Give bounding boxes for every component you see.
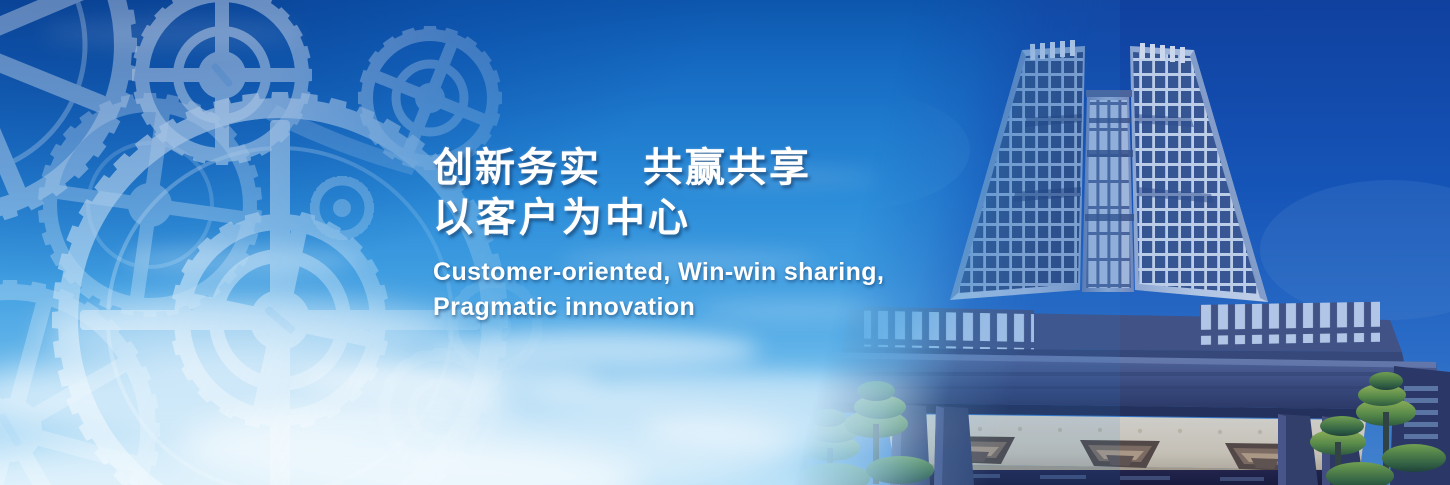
banner-copy: 创新务实 共赢共享 以客户为中心 Customer-oriented, Win-… bbox=[433, 143, 884, 325]
office-tower-photo bbox=[790, 0, 1450, 485]
headline-cn-line1: 创新务实 共赢共享 bbox=[433, 143, 884, 193]
headline-cn-line2: 以客户为中心 bbox=[433, 193, 884, 243]
corporate-hero-banner: 创新务实 共赢共享 以客户为中心 Customer-oriented, Win-… bbox=[0, 0, 1450, 485]
subtitle-en-line2: Pragmatic innovation bbox=[433, 290, 884, 325]
subtitle-en-line1: Customer-oriented, Win-win sharing, bbox=[433, 255, 884, 290]
